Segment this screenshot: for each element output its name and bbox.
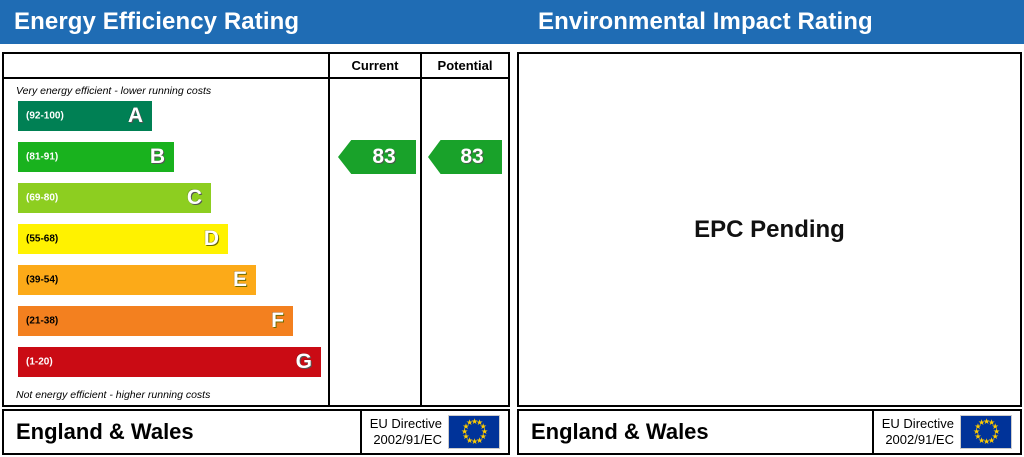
- rating-band-range-a: (92-100): [26, 111, 64, 122]
- rating-band-e: (39-54)E: [18, 265, 256, 295]
- rating-band-letter-b: B: [150, 145, 165, 169]
- column-header-current: Current: [328, 54, 420, 79]
- footer-directive-right: EU Directive 2002/91/EC: [882, 416, 954, 449]
- column-header-potential-label: Potential: [438, 58, 493, 73]
- chart-divider-1: [328, 79, 330, 405]
- energy-efficiency-title: Energy Efficiency Rating: [14, 8, 299, 36]
- caption-inefficient: Not energy efficient - higher running co…: [16, 389, 210, 401]
- rating-band-g: (1-20)G: [18, 347, 321, 377]
- footer-directive-left: EU Directive 2002/91/EC: [370, 416, 442, 449]
- rating-band-b: (81-91)B: [18, 142, 174, 172]
- eu-flag-star: ★: [466, 420, 472, 426]
- rating-band-c: (69-80)C: [18, 183, 211, 213]
- rating-band-range-b: (81-91): [26, 152, 58, 163]
- footer-divider-left: [360, 411, 362, 453]
- footer-region-left: England & Wales: [16, 419, 194, 445]
- rating-band-letter-f: F: [271, 309, 284, 333]
- potential-rating-value: 83: [446, 145, 483, 169]
- rating-band-letter-c: C: [187, 186, 202, 210]
- rating-band-range-c: (69-80): [26, 193, 58, 204]
- rating-band-letter-a: A: [128, 104, 143, 128]
- footer-directive-line1-left: EU Directive: [370, 416, 442, 432]
- eu-flag-star: ★: [978, 420, 984, 426]
- epc-pending-container: EPC Pending: [519, 54, 1020, 405]
- energy-efficiency-header: Energy Efficiency Rating: [0, 0, 512, 44]
- environmental-impact-chart: EPC Pending: [517, 52, 1022, 407]
- rating-band-range-f: (21-38): [26, 316, 58, 327]
- column-header-current-label: Current: [352, 58, 399, 73]
- energy-efficiency-panel: Energy Efficiency Rating Current Potenti…: [0, 0, 512, 457]
- footer-directive-line2-right: 2002/91/EC: [882, 432, 954, 448]
- footer-directive-line1-right: EU Directive: [882, 416, 954, 432]
- environmental-impact-header: Environmental Impact Rating: [512, 0, 1024, 44]
- rating-band-letter-g: G: [296, 350, 312, 374]
- epc-pending-text: EPC Pending: [694, 216, 845, 244]
- footer-region-right: England & Wales: [531, 419, 709, 445]
- eu-flag-icon-right: ★★★★★★★★★★★★: [960, 415, 1012, 449]
- footer-divider-right: [872, 411, 874, 453]
- potential-rating-arrow: 83: [428, 140, 502, 174]
- rating-band-letter-d: D: [204, 227, 219, 251]
- current-rating-value: 83: [358, 145, 395, 169]
- eu-flag-icon-left: ★★★★★★★★★★★★: [448, 415, 500, 449]
- chart-header-blank: [4, 54, 328, 79]
- column-header-potential: Potential: [420, 54, 508, 79]
- energy-efficiency-chart: Current Potential Very energy efficient …: [2, 52, 510, 407]
- current-rating-arrow: 83: [338, 140, 416, 174]
- rating-band-a: (92-100)A: [18, 101, 152, 131]
- environmental-impact-title: Environmental Impact Rating: [538, 8, 873, 36]
- rating-band-d: (55-68)D: [18, 224, 228, 254]
- epc-certificate: Energy Efficiency Rating Current Potenti…: [0, 0, 1024, 457]
- footer-left: England & Wales EU Directive 2002/91/EC …: [2, 409, 510, 455]
- rating-band-range-e: (39-54): [26, 275, 58, 286]
- rating-band-range-g: (1-20): [26, 357, 53, 368]
- rating-band-letter-e: E: [233, 268, 247, 292]
- rating-band-f: (21-38)F: [18, 306, 293, 336]
- footer-right: England & Wales EU Directive 2002/91/EC …: [517, 409, 1022, 455]
- chart-divider-2: [420, 79, 422, 405]
- footer-directive-line2-left: 2002/91/EC: [370, 432, 442, 448]
- caption-efficient: Very energy efficient - lower running co…: [16, 85, 211, 97]
- rating-band-list: Very energy efficient - lower running co…: [4, 79, 328, 405]
- environmental-impact-panel: Environmental Impact Rating EPC Pending: [512, 0, 1024, 457]
- rating-band-range-d: (55-68): [26, 234, 58, 245]
